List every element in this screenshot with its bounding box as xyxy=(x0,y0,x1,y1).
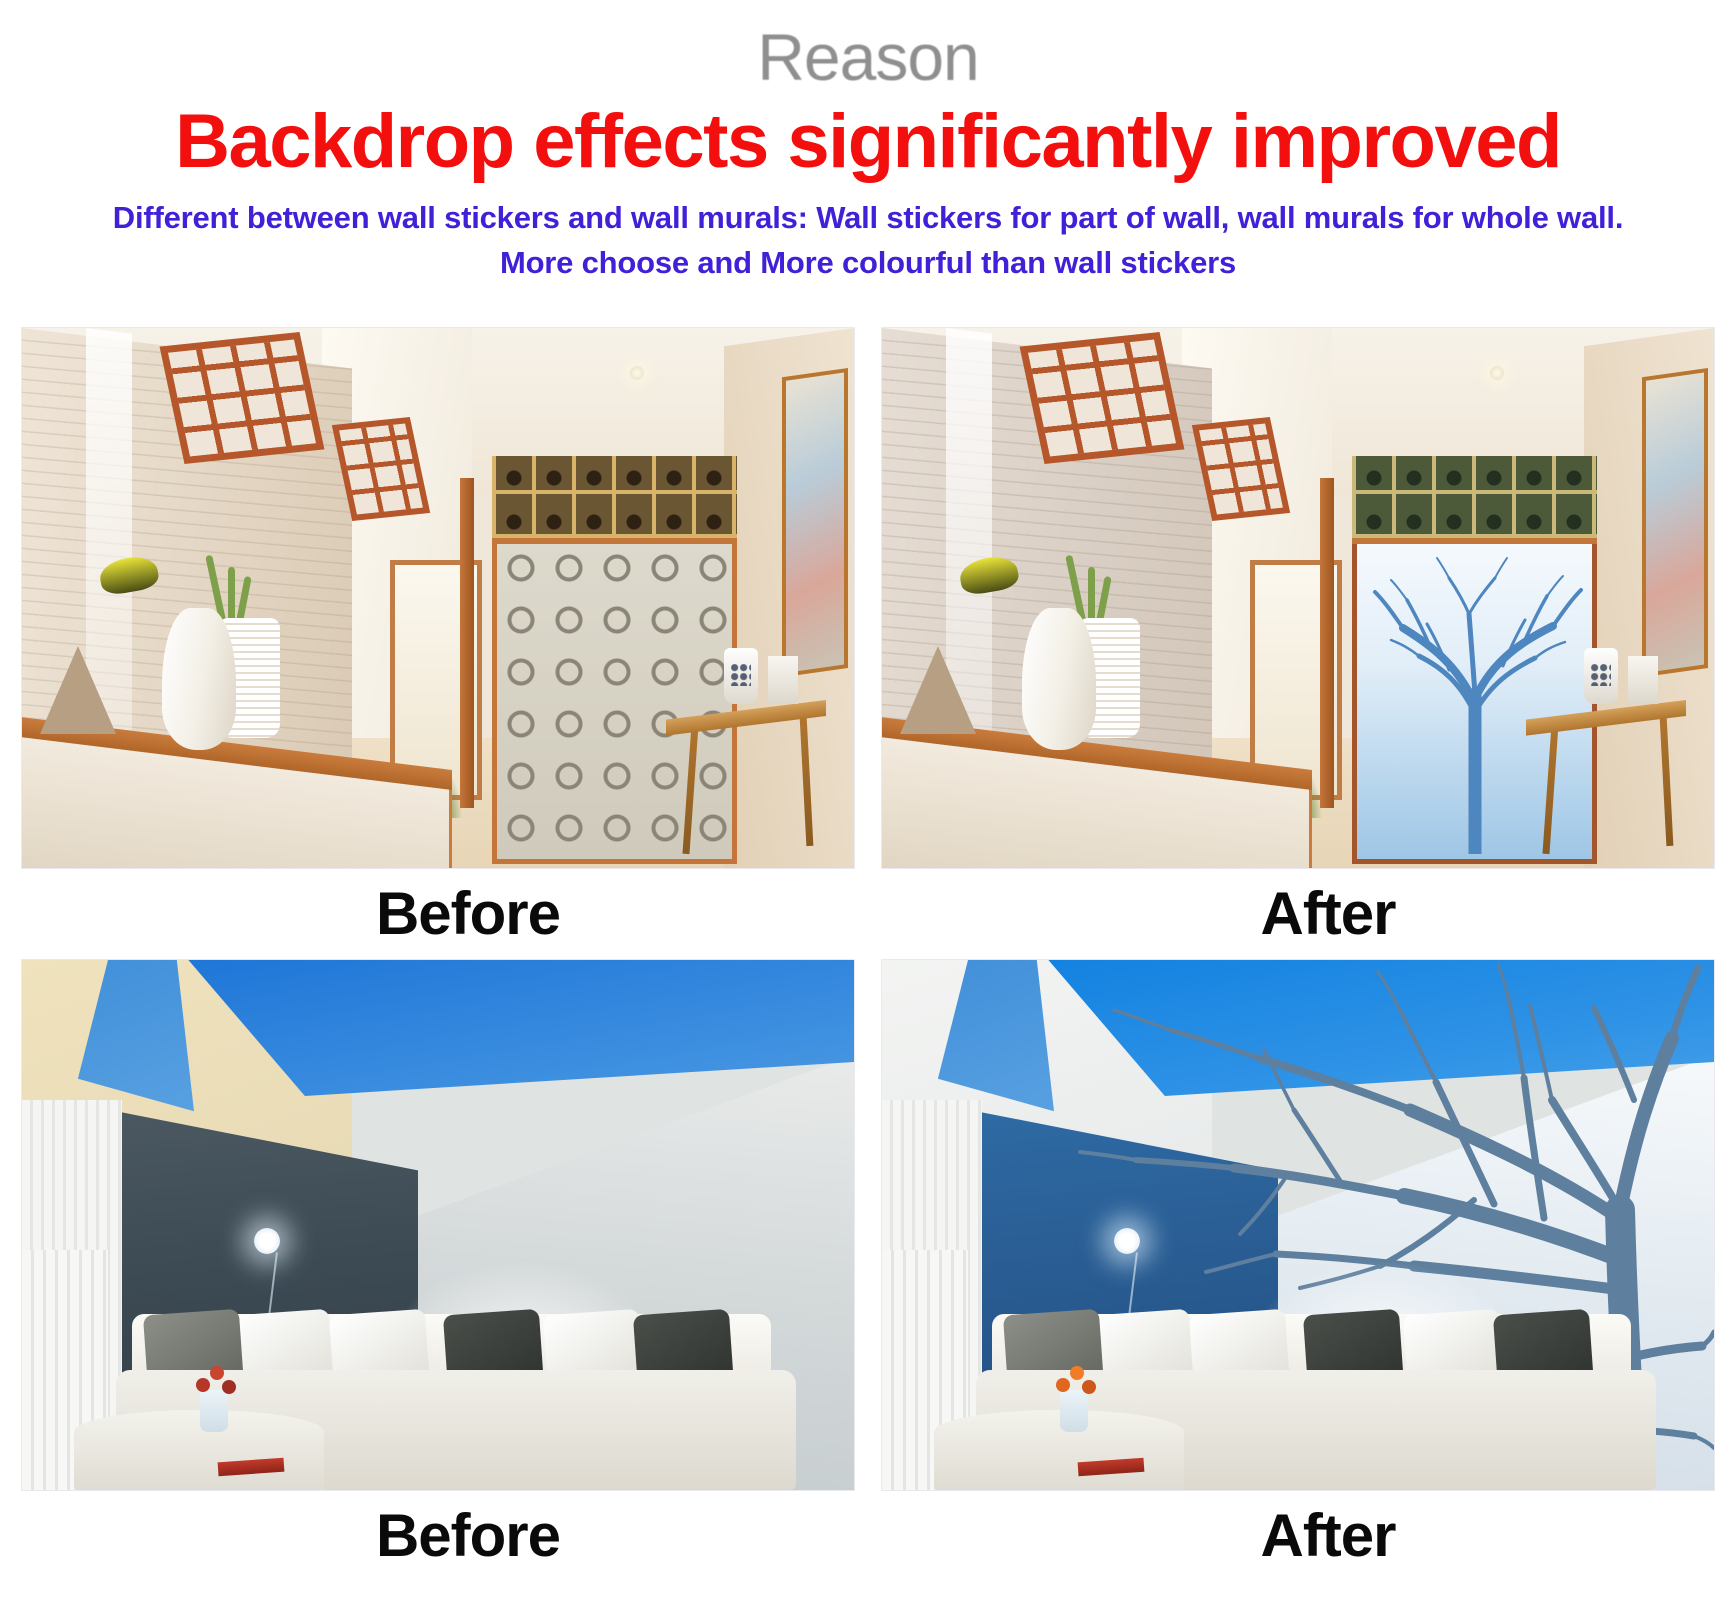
hallway-wall-art xyxy=(1642,368,1708,677)
hallway-decor-box xyxy=(1628,656,1658,704)
hallway-tall-vase xyxy=(1022,608,1096,750)
caption-living-after: After xyxy=(882,1490,1714,1566)
flower-bloom-3 xyxy=(1082,1380,1096,1394)
hallway-door-jamb xyxy=(460,478,474,808)
hallway-tree-mural-panel xyxy=(1352,544,1597,864)
living-pendant-light xyxy=(1114,1228,1140,1254)
living-flower-arrangement xyxy=(178,1340,248,1432)
flower-bloom-3 xyxy=(222,1380,236,1394)
hallway-door-jamb xyxy=(1320,478,1334,808)
photo-living-after xyxy=(882,960,1714,1490)
gallery-cell-living-after: After xyxy=(882,960,1714,1566)
subtitle-line-2: More choose and More colourful than wall… xyxy=(0,241,1736,286)
photo-living-before xyxy=(22,960,854,1490)
flower-bloom-1 xyxy=(1056,1378,1070,1392)
gallery-row-hallway: Before xyxy=(0,328,1736,944)
tree-mural-icon xyxy=(1357,544,1592,854)
flower-bloom-2 xyxy=(1070,1366,1084,1380)
gallery-cell-hallway-after: After xyxy=(882,328,1714,944)
hallway-patterned-wallpaper xyxy=(492,544,737,864)
subtitle-line-1: Different between wall stickers and wall… xyxy=(0,196,1736,241)
hallway-lattice-decor-large xyxy=(160,332,325,464)
hallway-cone-ornament xyxy=(900,646,976,734)
flower-vase xyxy=(200,1390,228,1432)
comparison-gallery: Before xyxy=(0,328,1736,1566)
photo-hallway-before xyxy=(22,328,854,868)
gallery-row-living-room: Before xyxy=(0,960,1736,1566)
hallway-cone-ornament xyxy=(40,646,116,734)
caption-hallway-after: After xyxy=(882,868,1714,944)
hallway-decor-jug xyxy=(1584,648,1618,704)
hallway-decor-box xyxy=(768,656,798,704)
photo-hallway-after xyxy=(882,328,1714,868)
flower-bloom-1 xyxy=(196,1378,210,1392)
caption-hallway-before: Before xyxy=(22,868,854,944)
hallway-ceiling-downlight xyxy=(1490,366,1504,380)
flower-vase xyxy=(1060,1390,1088,1432)
gallery-cell-living-before: Before xyxy=(22,960,854,1566)
hallway-ceiling-downlight xyxy=(630,366,644,380)
living-flower-arrangement xyxy=(1038,1340,1108,1432)
gallery-cell-hallway-before: Before xyxy=(22,328,854,944)
hallway-lattice-tile-panel xyxy=(492,456,737,544)
eyebrow-heading: Reason xyxy=(0,24,1736,96)
hallway-decor-jug xyxy=(724,648,758,704)
subtitle-block: Different between wall stickers and wall… xyxy=(0,196,1736,286)
page-header: Reason Backdrop effects significantly im… xyxy=(0,0,1736,286)
hallway-lattice-decor-large xyxy=(1020,332,1185,464)
hallway-lattice-tile-panel xyxy=(1352,456,1597,544)
flower-bloom-2 xyxy=(210,1366,224,1380)
living-pendant-light xyxy=(254,1228,280,1254)
hallway-wall-art xyxy=(782,368,848,677)
hallway-tall-vase xyxy=(162,608,236,750)
caption-living-before: Before xyxy=(22,1490,854,1566)
page-title: Backdrop effects significantly improved xyxy=(0,102,1736,182)
